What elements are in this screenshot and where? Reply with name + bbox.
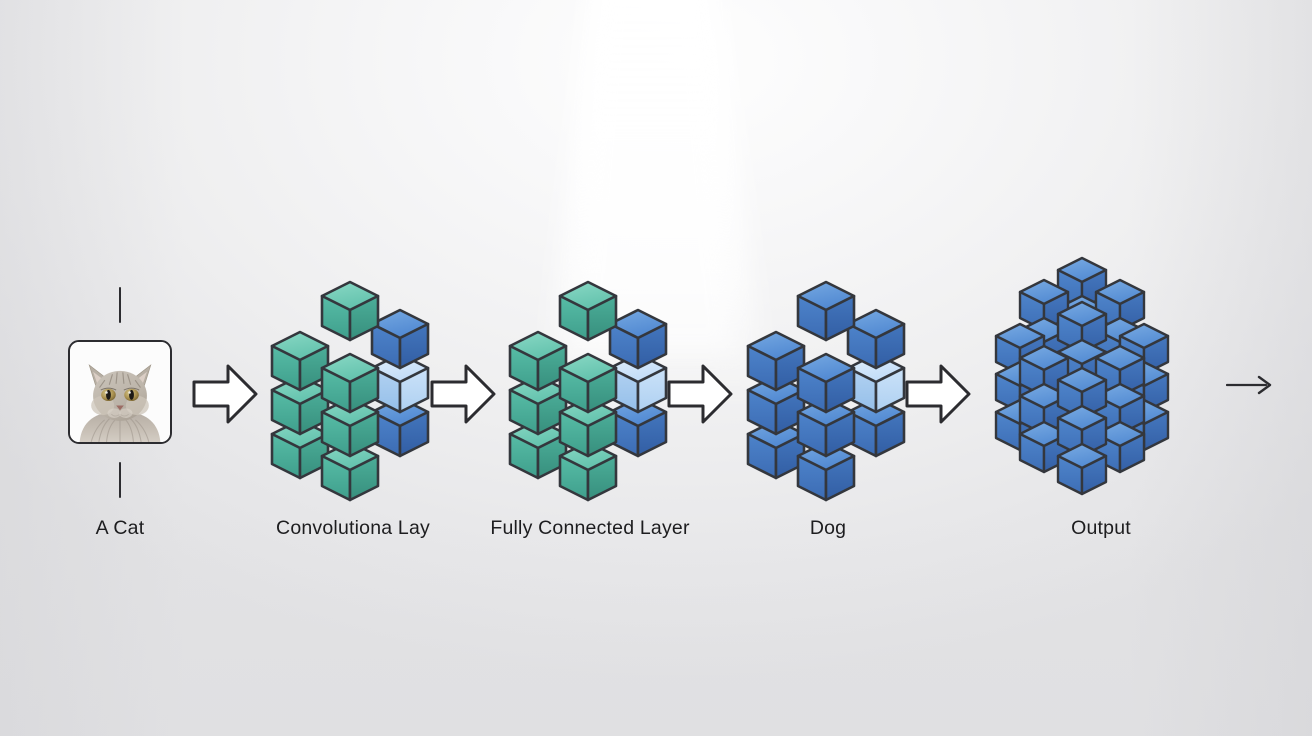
- cube-grid-icon-output: [996, 258, 1208, 496]
- stage-label-dog: Dog: [810, 517, 846, 540]
- stage-label-fc: Fully Connected Layer: [490, 517, 689, 540]
- thin-arrow-icon-5: [1226, 372, 1276, 398]
- cat-photo-icon: [68, 340, 172, 444]
- input-tick-bottom: [119, 462, 121, 498]
- block-arrow-icon-3: [667, 363, 733, 425]
- cube-stack-icon-fc: [506, 268, 686, 484]
- stage-label-conv: Convolutiona Lay: [276, 517, 430, 540]
- block-arrow-icon-2: [430, 363, 496, 425]
- cube-stack-icon-conv: [268, 268, 448, 484]
- cube-stack-icon-dog: [744, 268, 924, 484]
- block-arrow-icon-4: [905, 363, 971, 425]
- block-arrow-icon-1: [192, 363, 258, 425]
- stage-label-output: Output: [1071, 517, 1131, 540]
- diagram-canvas: A Cat: [0, 0, 1312, 736]
- input-tick-top: [119, 287, 121, 323]
- stage-label-input: A Cat: [96, 517, 145, 540]
